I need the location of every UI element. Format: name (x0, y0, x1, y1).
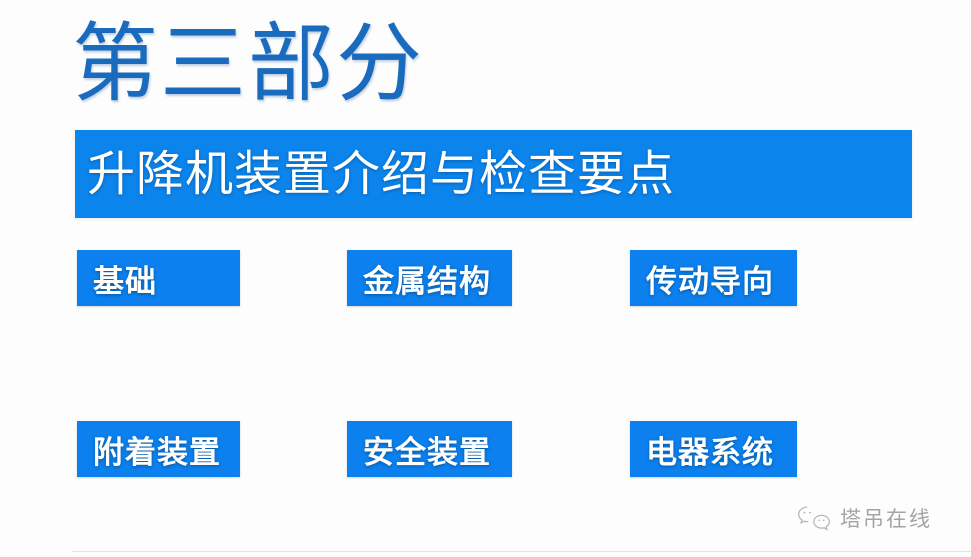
topic-button-anquanzhuangzhi[interactable]: 安全装置 (347, 421, 512, 477)
topic-button-fuzhuozhuangzhi[interactable]: 附着装置 (77, 421, 240, 477)
topic-button-label: 电器系统 (646, 421, 774, 477)
wechat-icon (797, 505, 831, 532)
bottom-divider (72, 551, 971, 552)
topic-button-chuandongdaoxiang[interactable]: 传动导向 (630, 250, 797, 306)
topic-button-label: 金属结构 (363, 250, 491, 306)
headline-text: 升降机装置介绍与检查要点 (87, 130, 675, 218)
headline-banner: 升降机装置介绍与检查要点 (75, 130, 912, 218)
topic-button-jichu[interactable]: 基础 (77, 250, 240, 306)
topic-button-label: 基础 (93, 250, 157, 306)
topic-button-label: 安全装置 (363, 421, 491, 477)
topic-button-dianqixitong[interactable]: 电器系统 (630, 421, 797, 477)
topic-button-label: 附着装置 (93, 421, 221, 477)
part-title: 第三部分 (72, 12, 572, 116)
topic-button-label: 传动导向 (646, 250, 774, 306)
presentation-slide: 第三部分 升降机装置介绍与检查要点 基础 金属结构 传动导向 附着装置 安全装置… (0, 0, 971, 557)
topic-button-jinshujiegou[interactable]: 金属结构 (347, 250, 512, 306)
watermark-label: 塔吊在线 (840, 503, 932, 533)
watermark: 塔吊在线 (797, 503, 932, 533)
